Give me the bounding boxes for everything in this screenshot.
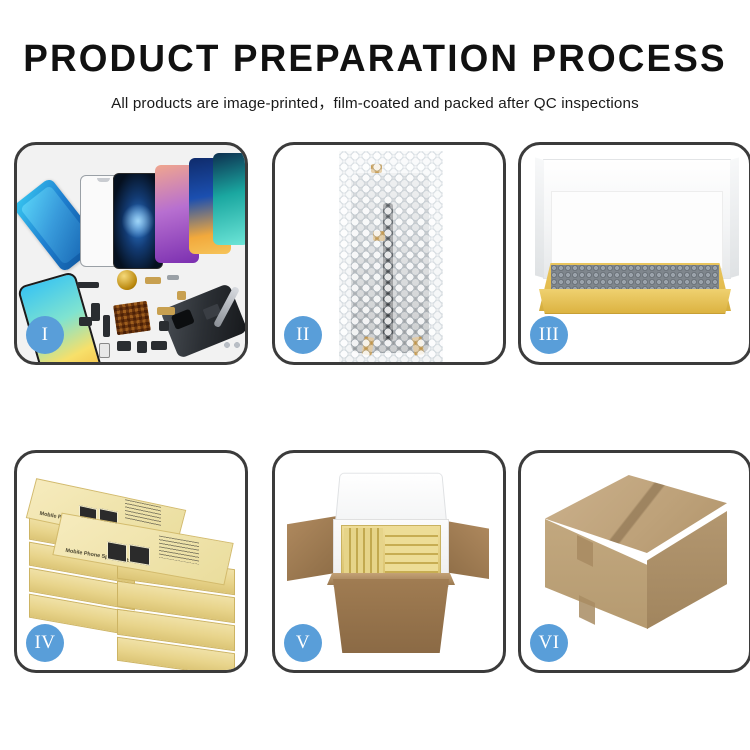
spare-part-icon [77,282,99,288]
process-step-2[interactable]: II [272,142,506,365]
spare-part-icon [117,341,131,351]
spare-part-icon [137,341,147,353]
foam-sheet [551,191,723,269]
step-badge-1: I [26,316,64,354]
green-phone-icon [213,153,248,245]
spare-part-icon [79,317,92,326]
speaker-coil-icon [117,270,137,290]
process-step-5[interactable]: V [272,450,506,673]
spare-part-icon [167,275,179,280]
spare-part-icon [145,277,161,284]
box-front-panel [539,289,731,314]
step-badge-2: II [284,316,322,354]
box-window [107,541,127,563]
box-window [129,544,150,566]
step-badge-5: V [284,624,322,662]
chip-board-icon [113,301,151,335]
page-subtitle: All products are image-printed，film-coat… [0,80,750,113]
spare-part-icon [159,321,169,331]
process-step-1[interactable]: I [14,142,248,365]
spare-part-icon [99,343,110,358]
spare-part-icon [103,315,110,337]
spare-part-icon [157,307,175,315]
bubble-texture [339,151,443,365]
step-badge-6: VI [530,624,568,662]
packed-boxes [341,525,441,581]
process-step-3[interactable]: III [518,142,750,365]
page-title: PRODUCT PREPARATION PROCESS [11,0,739,80]
process-step-grid: I II III [14,142,742,673]
spare-part-icon [177,291,186,300]
bubble-bag [339,151,443,365]
step-badge-3: III [530,316,568,354]
spare-part-icon [91,303,100,321]
screws-icon [223,341,243,349]
carton-body [333,579,449,653]
step-badge-4: IV [26,624,64,662]
page-header: PRODUCT PREPARATION PROCESS All products… [0,0,750,113]
process-step-4[interactable]: Mobile Phone Spare Parts Mobile Phone Sp… [14,450,248,673]
process-step-6[interactable]: VI [518,450,750,673]
spare-part-icon [151,341,167,350]
